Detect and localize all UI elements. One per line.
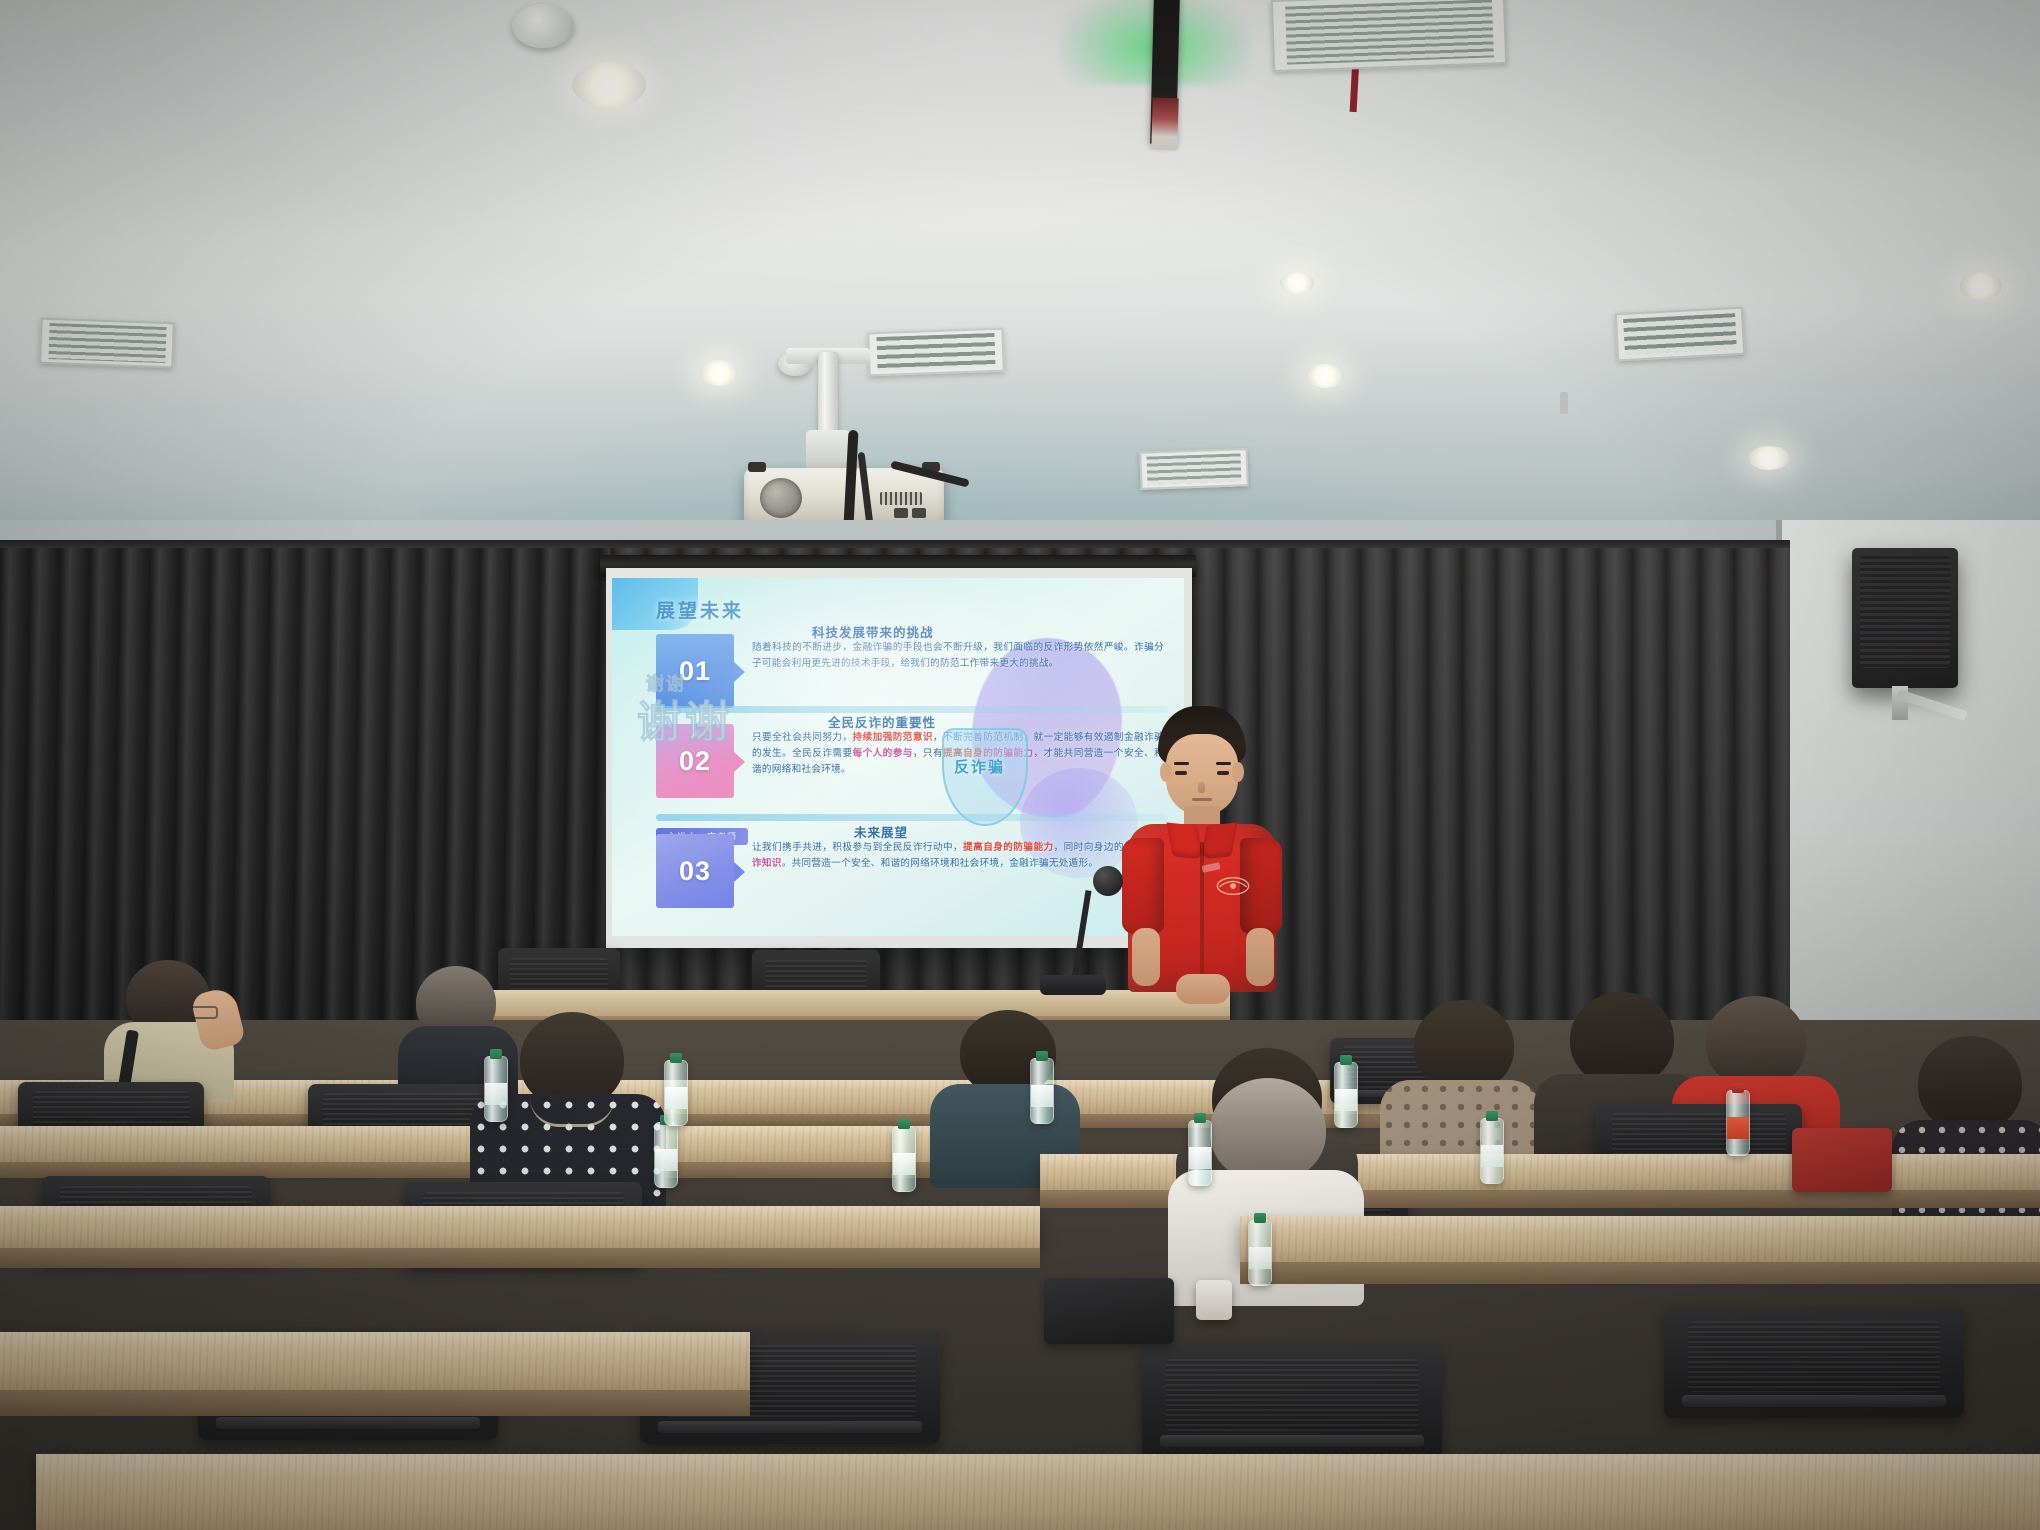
presenter-collar: [1167, 823, 1204, 860]
slide-section-heading: 全民反诈的重要性: [828, 712, 936, 731]
projector-foot: [748, 462, 766, 472]
slide-section-heading: 未来展望: [854, 822, 908, 841]
ceiling-downlight: [1748, 446, 1790, 470]
ceiling-downlight: [572, 62, 646, 108]
audience-chair: [1142, 1346, 1442, 1458]
slide-section-body: 随着科技的不断进步，金融诈骗的手段也会不断升级，我们面临的反诈形势依然严峻。诈骗…: [752, 640, 1164, 672]
water-bottle: [654, 1122, 678, 1188]
slide-divider: [656, 814, 1168, 821]
slide-section-number: 03: [656, 834, 734, 908]
water-bottle: [1030, 1058, 1054, 1124]
slide-watermark-large: 谢谢: [637, 686, 733, 750]
sprinkler-head-icon: [1560, 392, 1568, 414]
presenter-nose: [1198, 782, 1205, 793]
presenter-face: [1166, 734, 1238, 816]
water-bottle: [664, 1060, 688, 1126]
water-bottle: [892, 1126, 916, 1192]
presenter-hands: [1176, 974, 1230, 1004]
hanging-banner-tag: [1151, 98, 1178, 151]
microphone-icon: [1093, 866, 1123, 896]
red-handbag: [1792, 1128, 1892, 1192]
presenter-eye: [1175, 771, 1187, 775]
slide-body-fragment: ，只有: [913, 748, 943, 759]
audience-head: [1918, 1036, 2022, 1132]
section-number-label: 03: [679, 856, 711, 887]
water-bottle: [484, 1056, 508, 1122]
audience-chair: [1664, 1308, 1964, 1418]
audience-table: [1240, 1216, 2040, 1262]
audience-table: [36, 1454, 2040, 1530]
audience-head: [1414, 1000, 1514, 1092]
water-bottle: [1334, 1062, 1358, 1128]
ceiling-downlight: [700, 360, 738, 386]
microphone-base: [1040, 975, 1106, 995]
projector-mount-arm: [806, 430, 850, 470]
projector-port: [912, 508, 926, 518]
presenter-eyebrow: [1216, 762, 1231, 765]
water-bottle: [1188, 1120, 1212, 1186]
ceiling-downlight: [1280, 272, 1314, 294]
air-vent-icon: [39, 318, 175, 369]
water-bottle: [1248, 1220, 1272, 1286]
audience-member: [104, 960, 234, 1096]
audience-head: [1706, 996, 1806, 1088]
audience-table: [0, 1332, 750, 1390]
slide-body-fragment: 。共同营造一个安全、和谐的网络环境和社会环境，金融诈骗无处遁形。: [782, 858, 1099, 869]
presenter-eye: [1217, 771, 1229, 775]
audience-table: [0, 1206, 1040, 1248]
presenter: [1118, 706, 1286, 1018]
projector-port: [894, 508, 908, 518]
slide-header-title: 展望未来: [656, 596, 744, 623]
projector-vent-icon: [880, 492, 922, 505]
slide-section-heading: 科技发展带来的挑战: [812, 622, 934, 641]
white-cup: [1196, 1280, 1232, 1320]
air-vent-icon: [1271, 0, 1507, 72]
audience-glasses-icon: [178, 1006, 218, 1019]
slide-body-fragment: 每个人的参与: [853, 748, 913, 759]
water-bottle: [1480, 1118, 1504, 1184]
audience-table-edge: [0, 1248, 1040, 1268]
slide-body-fragment: 提高自身的防骗能力: [963, 842, 1053, 853]
slide-body-fragment: 让我们携手共进，积极参与到全民反诈行动中，: [752, 842, 963, 853]
audience-table-edge: [0, 1390, 750, 1416]
presenter-sleeve: [1122, 838, 1164, 934]
audience-head: [1570, 992, 1674, 1086]
water-bottle: [1726, 1090, 1750, 1156]
presenter-forearm: [1132, 928, 1160, 986]
slide-body-fragment: 只要全社会共同努力，: [752, 732, 853, 743]
wall-speaker-box: [1852, 548, 1958, 688]
audience-table-edge: [1240, 1262, 2040, 1284]
conference-room-photo: 展望未来 01 科技发展带来的挑战 随着科技的不断进步，金融诈骗的手段也会不断升…: [0, 0, 2040, 1530]
air-vent-icon: [867, 328, 1004, 377]
shield-label: 反诈骗: [954, 756, 1005, 777]
presenter-ear: [1232, 762, 1244, 782]
section-number-label: 02: [679, 746, 711, 777]
ceiling-downlight: [1960, 272, 2002, 300]
air-vent-icon: [1615, 307, 1745, 362]
shirt-emblem-icon: [1214, 874, 1252, 898]
speaker-grill-icon: [1860, 556, 1950, 668]
projector-lens-icon: [760, 478, 802, 518]
smoke-detector-icon: [512, 4, 574, 48]
slide-body-fragment: 持续加强防范意识: [853, 732, 933, 743]
presenter-forearm: [1246, 928, 1274, 986]
presenter-eyebrow: [1174, 762, 1189, 765]
ceiling-downlight: [1306, 364, 1344, 388]
audience-head: [1210, 1078, 1326, 1182]
air-vent-icon: [1139, 448, 1248, 490]
presenter-mouth: [1192, 798, 1212, 801]
black-shoulder-bag: [1044, 1278, 1174, 1344]
presenter-ear: [1160, 762, 1172, 782]
anti-fraud-shield-icon: 反诈骗: [942, 728, 1028, 826]
